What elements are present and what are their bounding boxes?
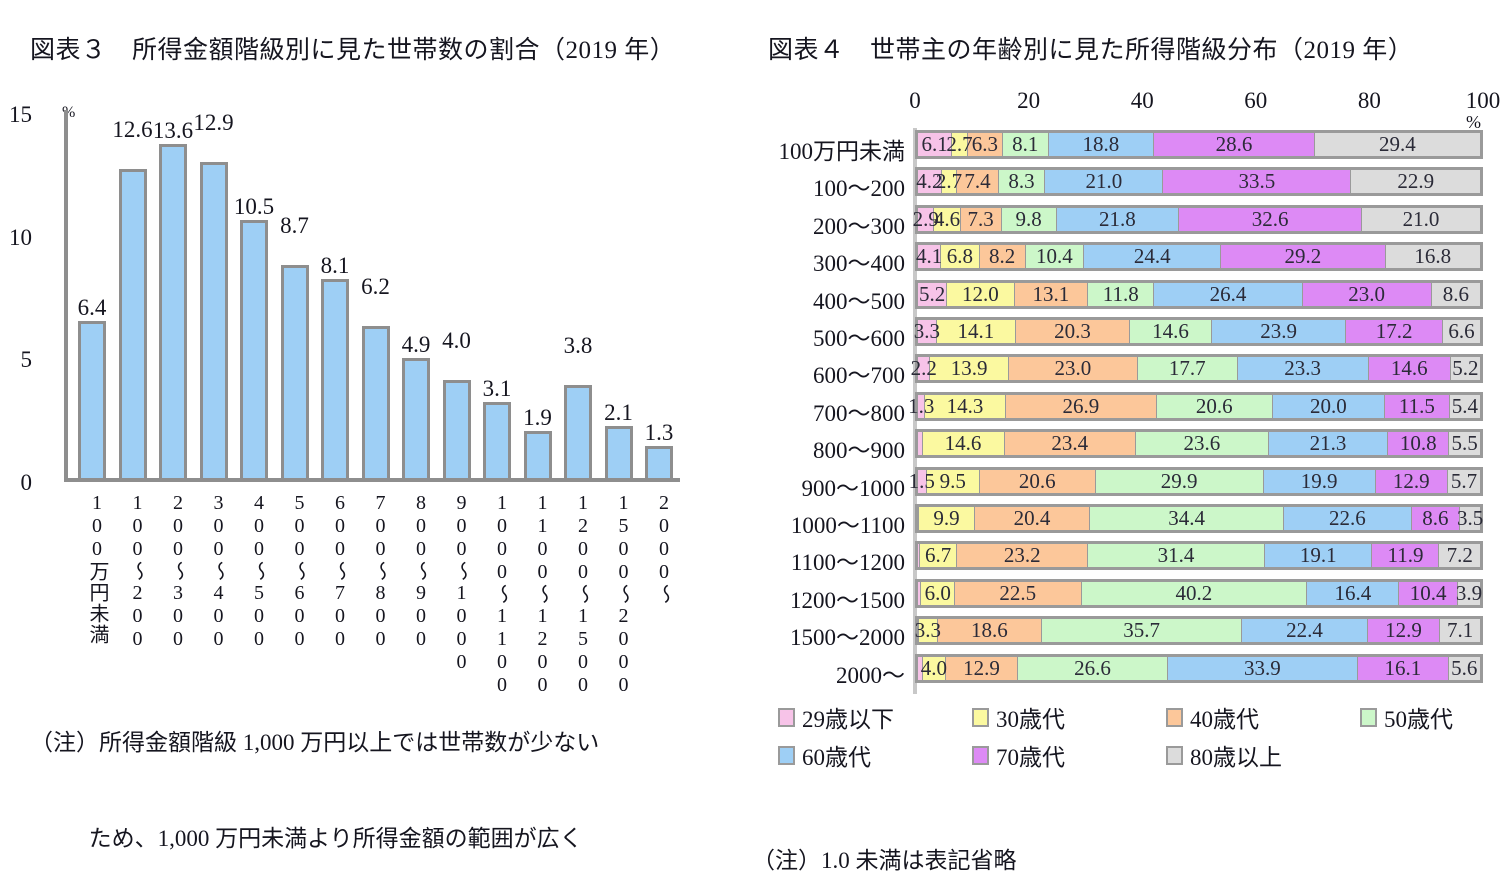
stack-segment-40歳代: 26.9 [1006, 395, 1157, 418]
right-x-tick-100: 100 [1453, 88, 1503, 114]
segment-value-label: 26.6 [1074, 656, 1111, 681]
segment-value-label: 11.9 [1387, 543, 1423, 568]
segment-value-label: 4.1 [916, 244, 942, 269]
segment-value-label: 18.8 [1082, 132, 1119, 157]
legend-swatch-icon [972, 746, 989, 765]
right-x-tick-60: 60 [1226, 88, 1286, 114]
stacked-bar-row: 5.212.013.111.826.423.08.6 [915, 280, 1483, 309]
segment-value-label: 5.2 [1452, 356, 1478, 381]
stack-segment-50歳代: 23.6 [1136, 432, 1269, 455]
left-note-line-2: ため、1,000 万円未満より所得金額の範囲が広く [30, 823, 730, 855]
legend-label: 60歳代 [802, 738, 871, 772]
row-label: 500〜600 [0, 319, 905, 353]
stack-segment-80歳以上: 8.6 [1432, 283, 1480, 306]
stack-segment-30歳代: 3.3 [919, 619, 938, 642]
row-label: 800〜900 [0, 431, 905, 465]
legend-swatch-icon [972, 708, 989, 727]
segment-value-label: 8.6 [1443, 282, 1469, 307]
stack-segment-70歳代: 8.6 [1412, 507, 1461, 530]
stack-segment-80歳以上: 7.2 [1439, 544, 1480, 567]
segment-value-label: 3.5 [1457, 506, 1483, 531]
stack-segment-40歳代: 8.2 [980, 245, 1026, 268]
segment-value-label: 21.0 [1403, 207, 1440, 232]
segment-value-label: 23.4 [1051, 431, 1088, 456]
right-chart-notes: （注）1.0 未満は表記省略 （資料）厚生労働省「令和元年国民生活基礎調査」より… [752, 782, 1497, 880]
legend-item-40歳代: 40歳代 [1166, 700, 1259, 734]
stack-segment-29歳以下: 2.9 [918, 208, 934, 231]
segment-value-label: 3.3 [915, 618, 941, 643]
row-label: 1500〜2000 [0, 618, 905, 652]
segment-value-label: 11.5 [1399, 394, 1435, 419]
stack-segment-80歳以上: 5.4 [1450, 395, 1480, 418]
stacked-bar-row: 4.16.88.210.424.429.216.8 [915, 242, 1483, 271]
segment-value-label: 20.4 [1014, 506, 1051, 531]
segment-value-label: 35.7 [1123, 618, 1160, 643]
legend-label: 30歳代 [996, 700, 1065, 734]
stack-segment-50歳代: 29.9 [1096, 470, 1264, 493]
segment-value-label: 1.5 [909, 469, 935, 494]
stack-segment-40歳代: 18.6 [938, 619, 1042, 642]
stack-segment-29歳以下: 3.3 [918, 320, 937, 343]
segment-value-label: 29.9 [1161, 469, 1198, 494]
segment-value-label: 23.2 [1004, 543, 1041, 568]
stack-segment-30歳代: 2.7 [942, 170, 957, 193]
stack-segment-30歳代: 14.6 [923, 432, 1005, 455]
segment-value-label: 23.0 [1054, 356, 1091, 381]
segment-value-label: 20.6 [1019, 469, 1056, 494]
stack-segment-70歳代: 10.4 [1399, 582, 1457, 605]
segment-value-label: 19.1 [1300, 543, 1337, 568]
segment-value-label: 17.7 [1169, 356, 1206, 381]
stack-segment-30歳代: 14.3 [925, 395, 1005, 418]
legend-swatch-icon [778, 708, 795, 727]
stack-segment-80歳以上: 5.5 [1449, 432, 1480, 455]
stack-segment-60歳代: 33.9 [1168, 657, 1358, 680]
segment-value-label: 9.8 [1015, 207, 1041, 232]
stack-segment-40歳代: 7.4 [957, 170, 999, 193]
stack-segment-40歳代: 23.0 [1009, 357, 1138, 380]
segment-value-label: 33.5 [1238, 169, 1275, 194]
segment-value-label: 6.8 [947, 244, 973, 269]
segment-value-label: 5.7 [1451, 469, 1477, 494]
stack-segment-70歳代: 10.8 [1388, 432, 1449, 455]
segment-value-label: 22.6 [1329, 506, 1366, 531]
segment-value-label: 16.4 [1335, 581, 1372, 606]
segment-value-label: 16.1 [1384, 656, 1421, 681]
legend-label: 40歳代 [1190, 700, 1259, 734]
segment-value-label: 22.9 [1397, 169, 1434, 194]
left-note-line-1: （注）所得金額階級 1,000 万円以上では世帯数が少ない [30, 727, 730, 759]
stack-segment-80歳以上: 6.6 [1443, 320, 1480, 343]
segment-value-label: 23.9 [1260, 319, 1297, 344]
segment-value-label: 3.9 [1456, 581, 1482, 606]
stack-segment-30歳代: 4.0 [923, 657, 946, 680]
segment-value-label: 23.3 [1284, 356, 1321, 381]
stacked-bar-row: 14.623.423.621.310.85.5 [915, 429, 1483, 458]
stack-segment-50歳代: 9.8 [1002, 208, 1057, 231]
right-stacked-bar-plot: 6.12.76.38.118.828.629.44.22.77.48.321.0… [915, 130, 1483, 692]
row-label: 700〜800 [0, 394, 905, 428]
segment-value-label: 8.3 [1008, 169, 1034, 194]
stack-segment-30歳代: 12.0 [947, 283, 1014, 306]
segment-value-label: 34.4 [1168, 506, 1205, 531]
segment-value-label: 9.5 [940, 469, 966, 494]
stack-segment-40歳代: 22.5 [955, 582, 1081, 605]
segment-value-label: 31.4 [1158, 543, 1195, 568]
stack-segment-40歳代: 7.3 [961, 208, 1002, 231]
left-note-label: （注） [30, 730, 99, 755]
segment-value-label: 40.2 [1176, 581, 1213, 606]
stack-segment-30歳代: 4.6 [934, 208, 960, 231]
stack-segment-29歳以下: 1.5 [918, 470, 927, 493]
segment-value-label: 6.3 [972, 132, 998, 157]
stack-segment-50歳代: 10.4 [1026, 245, 1084, 268]
stack-segment-50歳代: 20.6 [1157, 395, 1273, 418]
stack-segment-40歳代: 23.2 [957, 544, 1088, 567]
stack-segment-70歳代: 11.9 [1372, 544, 1439, 567]
stack-segment-80歳以上: 5.7 [1448, 470, 1480, 493]
left-chart-notes: （注）所得金額階級 1,000 万円以上では世帯数が少ない ため、1,000 万… [30, 664, 730, 880]
segment-value-label: 24.4 [1134, 244, 1171, 269]
segment-value-label: 5.2 [919, 282, 945, 307]
row-label: 200〜300 [0, 207, 905, 241]
left-note-text-1: 所得金額階級 1,000 万円以上では世帯数が少ない [99, 730, 599, 755]
segment-value-label: 7.2 [1447, 543, 1473, 568]
segment-value-label: 10.4 [1036, 244, 1073, 269]
segment-value-label: 12.9 [1393, 469, 1430, 494]
segment-value-label: 23.0 [1348, 282, 1385, 307]
left-y-tick-15: 15 [9, 102, 32, 128]
segment-value-label: 21.3 [1310, 431, 1347, 456]
stack-segment-60歳代: 26.4 [1154, 283, 1302, 306]
segment-value-label: 1.3 [908, 394, 934, 419]
stacked-bar-row: 3.314.120.314.623.917.26.6 [915, 317, 1483, 346]
stack-segment-29歳以下: 2.2 [918, 357, 930, 380]
segment-value-label: 10.4 [1410, 581, 1447, 606]
segment-value-label: 6.6 [1448, 319, 1474, 344]
segment-value-label: 2.2 [911, 356, 937, 381]
stack-segment-40歳代: 20.4 [975, 507, 1090, 530]
right-note-line-1: （注）1.0 未満は表記省略 [752, 845, 1497, 877]
right-x-tick-80: 80 [1339, 88, 1399, 114]
stack-segment-30歳代: 2.7 [952, 133, 967, 156]
legend-item-29歳以下: 29歳以下 [778, 700, 894, 734]
stack-segment-60歳代: 22.4 [1242, 619, 1368, 642]
row-label: 1000〜1100 [0, 506, 905, 540]
stack-segment-60歳代: 21.0 [1045, 170, 1163, 193]
stack-segment-30歳代: 6.0 [921, 582, 955, 605]
stack-segment-80歳以上: 29.4 [1315, 133, 1480, 156]
stacked-bar-row: 3.318.635.722.412.97.1 [915, 616, 1483, 645]
stack-segment-80歳以上: 3.5 [1460, 507, 1480, 530]
stack-segment-60歳代: 21.3 [1269, 432, 1389, 455]
legend-item-80歳以上: 80歳以上 [1166, 738, 1282, 772]
row-label: 900〜1000 [0, 469, 905, 503]
stacked-bar-row: 4.22.77.48.321.033.522.9 [915, 167, 1483, 196]
stack-segment-50歳代: 31.4 [1088, 544, 1265, 567]
row-label: 600〜700 [0, 356, 905, 390]
segment-value-label: 13.1 [1032, 282, 1069, 307]
legend-item-50歳代: 50歳代 [1360, 700, 1453, 734]
segment-value-label: 28.6 [1216, 132, 1253, 157]
stack-segment-70歳代: 14.6 [1369, 357, 1451, 380]
segment-value-label: 26.4 [1210, 282, 1247, 307]
segment-value-label: 14.6 [1391, 356, 1428, 381]
row-label: 100万円未満 [0, 132, 905, 166]
segment-value-label: 7.1 [1447, 618, 1473, 643]
stack-segment-60歳代: 22.6 [1284, 507, 1412, 530]
segment-value-label: 26.9 [1062, 394, 1099, 419]
stack-segment-40歳代: 6.3 [968, 133, 1003, 156]
segment-value-label: 5.4 [1452, 394, 1478, 419]
segment-value-label: 18.6 [971, 618, 1008, 643]
stack-segment-50歳代: 11.8 [1088, 283, 1154, 306]
segment-value-label: 17.2 [1376, 319, 1413, 344]
segment-value-label: 9.9 [933, 506, 959, 531]
stack-segment-40歳代: 23.4 [1005, 432, 1137, 455]
stack-segment-50歳代: 8.3 [999, 170, 1046, 193]
segment-value-label: 20.3 [1054, 319, 1091, 344]
stack-segment-50歳代: 26.6 [1018, 657, 1167, 680]
stack-segment-30歳代: 14.1 [937, 320, 1016, 343]
stack-segment-40歳代: 20.3 [1016, 320, 1130, 343]
stack-segment-50歳代: 14.6 [1130, 320, 1212, 343]
right-note-label: （注） [752, 848, 821, 873]
segment-value-label: 2.7 [946, 132, 972, 157]
stack-segment-30歳代: 6.7 [920, 544, 958, 567]
right-chart-legend: 29歳以下30歳代40歳代50歳代60歳代70歳代80歳以上 [778, 700, 1503, 764]
segment-value-label: 12.9 [1385, 618, 1422, 643]
legend-swatch-icon [778, 746, 795, 765]
stack-segment-80歳以上: 3.9 [1458, 582, 1480, 605]
segment-value-label: 21.8 [1099, 207, 1136, 232]
stacked-bar-row: 1.314.326.920.620.011.55.4 [915, 392, 1483, 421]
segment-value-label: 13.9 [951, 356, 988, 381]
segment-value-label: 7.4 [964, 169, 990, 194]
stack-segment-50歳代: 34.4 [1090, 507, 1284, 530]
legend-item-70歳代: 70歳代 [972, 738, 1065, 772]
stack-segment-29歳以下: 5.2 [918, 283, 947, 306]
stack-segment-80歳以上: 5.6 [1449, 657, 1480, 680]
stack-segment-60歳代: 20.0 [1273, 395, 1385, 418]
segment-value-label: 8.1 [1012, 132, 1038, 157]
stack-segment-50歳代: 8.1 [1003, 133, 1049, 156]
stack-segment-29歳以下: 4.1 [918, 245, 941, 268]
segment-value-label: 3.3 [914, 319, 940, 344]
stack-segment-60歳代: 24.4 [1084, 245, 1221, 268]
segment-value-label: 12.9 [963, 656, 1000, 681]
segment-value-label: 7.3 [967, 207, 993, 232]
segment-value-label: 29.2 [1285, 244, 1322, 269]
stack-segment-40歳代: 20.6 [980, 470, 1096, 493]
segment-value-label: 23.6 [1184, 431, 1221, 456]
row-label: 400〜500 [0, 282, 905, 316]
segment-value-label: 20.6 [1196, 394, 1233, 419]
stack-segment-70歳代: 29.2 [1221, 245, 1385, 268]
stacked-bar-row: 2.213.923.017.723.314.65.2 [915, 354, 1483, 383]
segment-value-label: 12.0 [962, 282, 999, 307]
stacked-bar-row: 6.723.231.419.111.97.2 [915, 541, 1483, 570]
stacked-bar-row: 6.022.540.216.410.43.9 [915, 579, 1483, 608]
legend-label: 70歳代 [996, 738, 1065, 772]
stack-segment-30歳代: 13.9 [930, 357, 1008, 380]
stack-segment-30歳代: 9.9 [919, 507, 975, 530]
segment-value-label: 22.4 [1286, 618, 1323, 643]
segment-value-label: 10.8 [1400, 431, 1437, 456]
legend-label: 29歳以下 [802, 700, 894, 734]
right-x-tick-40: 40 [1112, 88, 1172, 114]
row-label: 100〜200 [0, 169, 905, 203]
right-x-tick-0: 0 [885, 88, 945, 114]
stack-segment-80歳以上: 7.1 [1440, 619, 1480, 642]
stack-segment-70歳代: 16.1 [1358, 657, 1448, 680]
segment-value-label: 14.1 [957, 319, 994, 344]
stacked-bar-row: 1.59.520.629.919.912.95.7 [915, 467, 1483, 496]
segment-value-label: 33.9 [1244, 656, 1281, 681]
stack-segment-60歳代: 16.4 [1307, 582, 1399, 605]
segment-value-label: 6.1 [922, 132, 948, 157]
row-label: 300〜400 [0, 244, 905, 278]
stack-segment-70歳代: 23.0 [1303, 283, 1432, 306]
row-label: 2000〜 [0, 656, 905, 690]
segment-value-label: 14.6 [1152, 319, 1189, 344]
stack-segment-60歳代: 21.8 [1057, 208, 1179, 231]
stack-segment-30歳代: 6.8 [941, 245, 979, 268]
segment-value-label: 6.0 [925, 581, 951, 606]
stacked-bar-row: 9.920.434.422.68.63.5 [915, 504, 1483, 533]
segment-value-label: 8.2 [989, 244, 1015, 269]
stacked-bar-row: 6.12.76.38.118.828.629.4 [915, 130, 1483, 159]
segment-value-label: 21.0 [1085, 169, 1122, 194]
stack-segment-60歳代: 19.1 [1265, 544, 1373, 567]
stack-segment-60歳代: 23.9 [1212, 320, 1346, 343]
segment-value-label: 19.9 [1301, 469, 1338, 494]
stack-segment-70歳代: 28.6 [1154, 133, 1315, 156]
stack-segment-70歳代: 17.2 [1346, 320, 1443, 343]
stack-segment-80歳以上: 16.8 [1386, 245, 1480, 268]
stacked-bar-row: 4.012.926.633.916.15.6 [915, 654, 1483, 683]
segment-value-label: 2.7 [936, 169, 962, 194]
legend-item-30歳代: 30歳代 [972, 700, 1065, 734]
stack-segment-60歳代: 19.9 [1264, 470, 1376, 493]
stack-segment-60歳代: 23.3 [1238, 357, 1369, 380]
segment-value-label: 11.8 [1103, 282, 1139, 307]
row-label: 1100〜1200 [0, 543, 905, 577]
row-label: 1200〜1500 [0, 581, 905, 615]
stack-segment-80歳以上: 22.9 [1351, 170, 1480, 193]
legend-label: 50歳代 [1384, 700, 1453, 734]
stack-segment-60歳代: 18.8 [1049, 133, 1155, 156]
right-note-text-1: 1.0 未満は表記省略 [821, 848, 1017, 873]
segment-value-label: 14.3 [947, 394, 984, 419]
legend-label: 80歳以上 [1190, 738, 1282, 772]
stack-segment-40歳代: 12.9 [946, 657, 1018, 680]
segment-value-label: 14.6 [945, 431, 982, 456]
segment-value-label: 5.5 [1451, 431, 1477, 456]
stack-segment-50歳代: 17.7 [1138, 357, 1238, 380]
stacked-bar-row: 2.94.67.39.821.832.621.0 [915, 205, 1483, 234]
right-chart-title: 図表４ 世帯主の年齢別に見た所得階級分布（2019 年） [768, 30, 1413, 66]
stack-segment-50歳代: 35.7 [1042, 619, 1242, 642]
stack-segment-50歳代: 40.2 [1082, 582, 1308, 605]
segment-value-label: 22.5 [999, 581, 1036, 606]
segment-value-label: 8.6 [1422, 506, 1448, 531]
stack-segment-80歳以上: 21.0 [1362, 208, 1480, 231]
segment-value-label: 20.0 [1310, 394, 1347, 419]
stack-segment-70歳代: 12.9 [1368, 619, 1440, 642]
stack-segment-70歳代: 33.5 [1163, 170, 1351, 193]
stack-segment-80歳以上: 5.2 [1451, 357, 1480, 380]
left-chart-title: 図表３ 所得金額階級別に見た世帯数の割合（2019 年） [30, 30, 675, 66]
legend-item-60歳代: 60歳代 [778, 738, 871, 772]
right-x-tick-20: 20 [999, 88, 1059, 114]
segment-value-label: 4.0 [921, 656, 947, 681]
stack-segment-70歳代: 32.6 [1179, 208, 1362, 231]
legend-swatch-icon [1360, 708, 1377, 727]
stack-segment-40歳代: 13.1 [1015, 283, 1089, 306]
stack-segment-29歳以下: 1.3 [918, 395, 925, 418]
segment-value-label: 5.6 [1451, 656, 1477, 681]
segment-value-label: 4.6 [934, 207, 960, 232]
segment-value-label: 32.6 [1252, 207, 1289, 232]
segment-value-label: 6.7 [925, 543, 951, 568]
legend-swatch-icon [1166, 708, 1183, 727]
segment-value-label: 16.8 [1414, 244, 1451, 269]
stack-segment-70歳代: 12.9 [1376, 470, 1448, 493]
legend-swatch-icon [1166, 746, 1183, 765]
figure-page: 図表３ 所得金額階級別に見た世帯数の割合（2019 年） % 051015 6.… [0, 0, 1503, 880]
stack-segment-70歳代: 11.5 [1385, 395, 1450, 418]
segment-value-label: 29.4 [1379, 132, 1416, 157]
